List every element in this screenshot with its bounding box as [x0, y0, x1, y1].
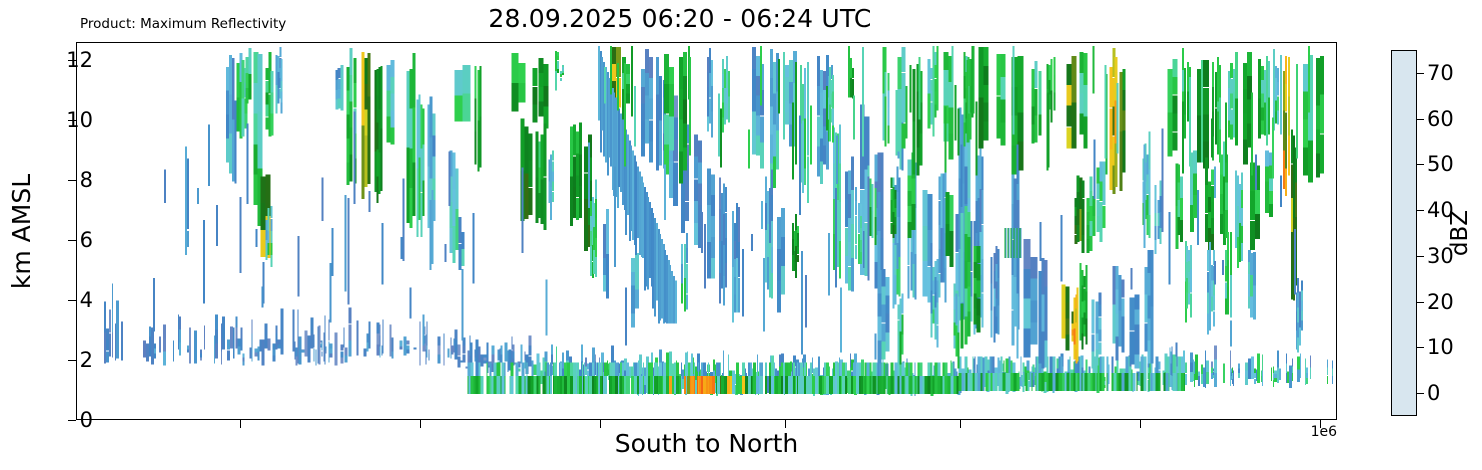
radar-cross-section-figure: Product: Maximum Reflectivity 28.09.2025…	[0, 0, 1482, 470]
colorbar-tick	[1417, 210, 1424, 211]
y-tick	[68, 420, 76, 421]
chart-title: 28.09.2025 06:20 - 06:24 UTC	[0, 4, 1360, 33]
x-tick	[960, 420, 961, 428]
y-tick-label: 10	[66, 108, 93, 132]
colorbar-tick-label: 0	[1427, 381, 1440, 405]
x-tick	[600, 420, 601, 428]
x-tick	[785, 420, 786, 428]
y-tick-label: 2	[80, 348, 93, 372]
x-axis-label: South to North	[76, 429, 1337, 458]
y-tick	[68, 300, 76, 301]
colorbar-tick	[1417, 302, 1424, 303]
y-tick-label: 4	[80, 288, 93, 312]
x-axis-offset-text: 1e6	[1311, 424, 1337, 440]
x-tick	[240, 420, 241, 428]
y-axis-label: km AMSL	[2, 42, 42, 420]
y-tick-label: 8	[80, 168, 93, 192]
x-tick	[1140, 420, 1141, 428]
y-tick	[68, 360, 76, 361]
colorbar-tick	[1417, 393, 1424, 394]
plot-area	[76, 42, 1337, 420]
colorbar-title-text: dBZ	[1447, 210, 1473, 256]
y-tick-label: 6	[80, 228, 93, 252]
colorbar-tick	[1417, 164, 1424, 165]
colorbar-title: dBZ	[1443, 50, 1477, 416]
reflectivity-heatmap	[77, 43, 1336, 419]
y-tick	[68, 180, 76, 181]
colorbar-tick	[1417, 119, 1424, 120]
colorbar-gradient	[1392, 51, 1416, 415]
y-axis-label-text: km AMSL	[8, 173, 37, 288]
heatmap-canvas-wrap	[77, 43, 1336, 419]
y-tick-label: 12	[66, 48, 93, 72]
colorbar-tick	[1417, 256, 1424, 257]
x-tick	[420, 420, 421, 428]
colorbar-tick	[1417, 347, 1424, 348]
y-tick	[68, 240, 76, 241]
colorbar	[1391, 50, 1417, 416]
colorbar-tick	[1417, 73, 1424, 74]
